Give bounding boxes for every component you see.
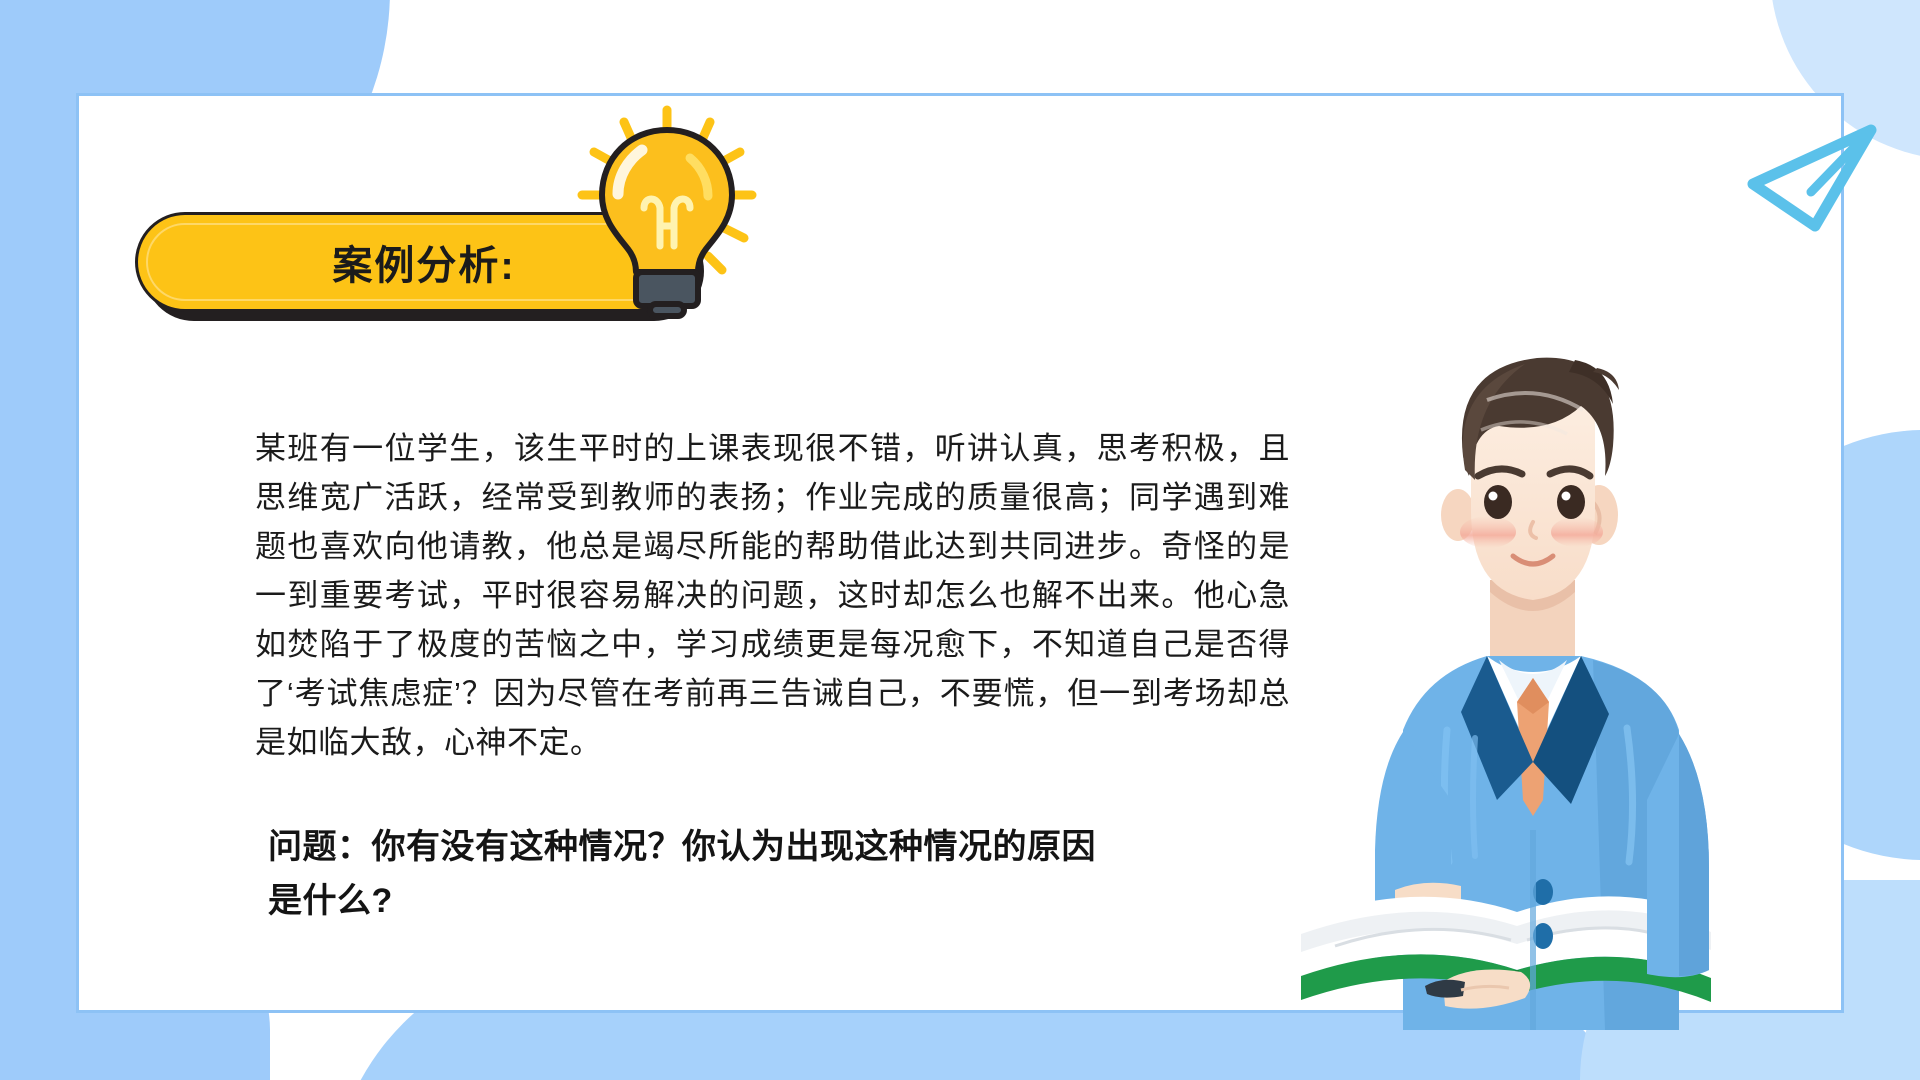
question-block: 问题：你有没有这种情况？你认为出现这种情况的原因是什么?: [268, 820, 1128, 929]
student-illustration: [1275, 330, 1835, 1030]
question-text: 问题：你有没有这种情况？你认为出现这种情况的原因是什么?: [268, 820, 1128, 929]
banner-label: 案例分析:: [332, 233, 515, 291]
paper-plane-icon: [1745, 122, 1880, 237]
case-body-text: 某班有一位学生，该生平时的上课表现很不错，听讲认真，思考积极，且思维宽广活跃，经…: [255, 425, 1290, 768]
slide-root: 案例分析: 某班有一位学生，该生平时的上课表现很不错，听讲认真，思考: [0, 0, 1920, 1080]
lightbulb-icon: [572, 100, 762, 320]
case-paragraph: 某班有一位学生，该生平时的上课表现很不错，听讲认真，思考积极，且思维宽广活跃，经…: [255, 425, 1290, 768]
